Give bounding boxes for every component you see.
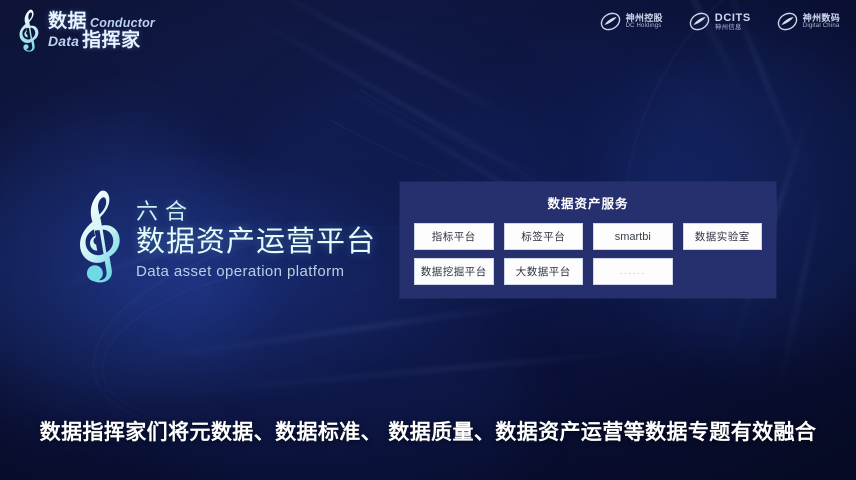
product-eyebrow: 六合 [136,201,376,223]
service-tile-row: 数据挖掘平台 大数据平台 ...... [414,258,762,285]
slide-canvas: 数据 Conductor Data 指挥家 神州控股 DC Holdings [0,0,856,480]
brand-line1-cn: 数据 [48,12,87,31]
product-title-text: 六合 数据资产运营平台 Data asset operation platfor… [136,201,376,279]
brand-line1-en: Conductor [90,17,155,30]
treble-clef-icon [14,8,44,52]
service-tile-grid: 指标平台 标签平台 smartbi 数据实验室 数据挖掘平台 大数据平台 ...… [400,212,776,285]
product-title: 数据资产运营平台 [136,228,376,257]
swoosh-icon [600,11,621,32]
corp-name-cn: DCITS [715,12,751,24]
brand-line2-en: Data [48,34,79,48]
slide-caption: 数据指挥家们将元数据、数据标准、 数据质量、数据资产运营等数据专题有效融合 [0,416,856,446]
service-tile-row: 指标平台 标签平台 smartbi 数据实验室 [414,223,762,250]
product-title-lockup: 六合 数据资产运营平台 Data asset operation platfor… [72,188,376,292]
corporate-logo-dcits: DCITS 神州信息 [689,11,751,32]
corporate-logo-dc-holdings: 神州控股 DC Holdings [600,11,663,32]
corporate-logo-digital-china: 神州数码 Digital China [777,11,840,32]
service-tile-metric-platform[interactable]: 指标平台 [414,223,494,250]
corp-name-cn: 神州数码 [803,13,840,23]
data-asset-service-panel: 数据资产服务 指标平台 标签平台 smartbi 数据实验室 数据挖掘平台 大数… [400,182,776,298]
corporate-logo-row: 神州控股 DC Holdings DCITS 神州信息 神州数码 Digital… [600,11,840,32]
service-tile-more[interactable]: ...... [593,258,673,285]
swoosh-icon [777,11,798,32]
corp-name-en: Digital China [803,23,840,30]
corp-name-cn: 神州控股 [626,13,663,23]
service-tile-smartbi[interactable]: smartbi [593,223,673,250]
brand-wordmark: 数据 Conductor Data 指挥家 [48,10,155,50]
brand-line2-cn: 指挥家 [82,31,141,50]
brand-logo: 数据 Conductor Data 指挥家 [14,8,155,52]
swoosh-icon [689,11,710,32]
treble-clef-icon [72,188,124,292]
panel-title: 数据资产服务 [400,182,776,212]
corp-name-en: DC Holdings [626,23,663,30]
corp-name-en: 神州信息 [715,24,751,31]
service-tile-data-mining-platform[interactable]: 数据挖掘平台 [414,258,494,285]
service-tile-big-data-platform[interactable]: 大数据平台 [504,258,584,285]
service-tile-data-lab[interactable]: 数据实验室 [683,223,763,250]
service-tile-tag-platform[interactable]: 标签平台 [504,223,584,250]
product-subtitle: Data asset operation platform [136,264,376,279]
